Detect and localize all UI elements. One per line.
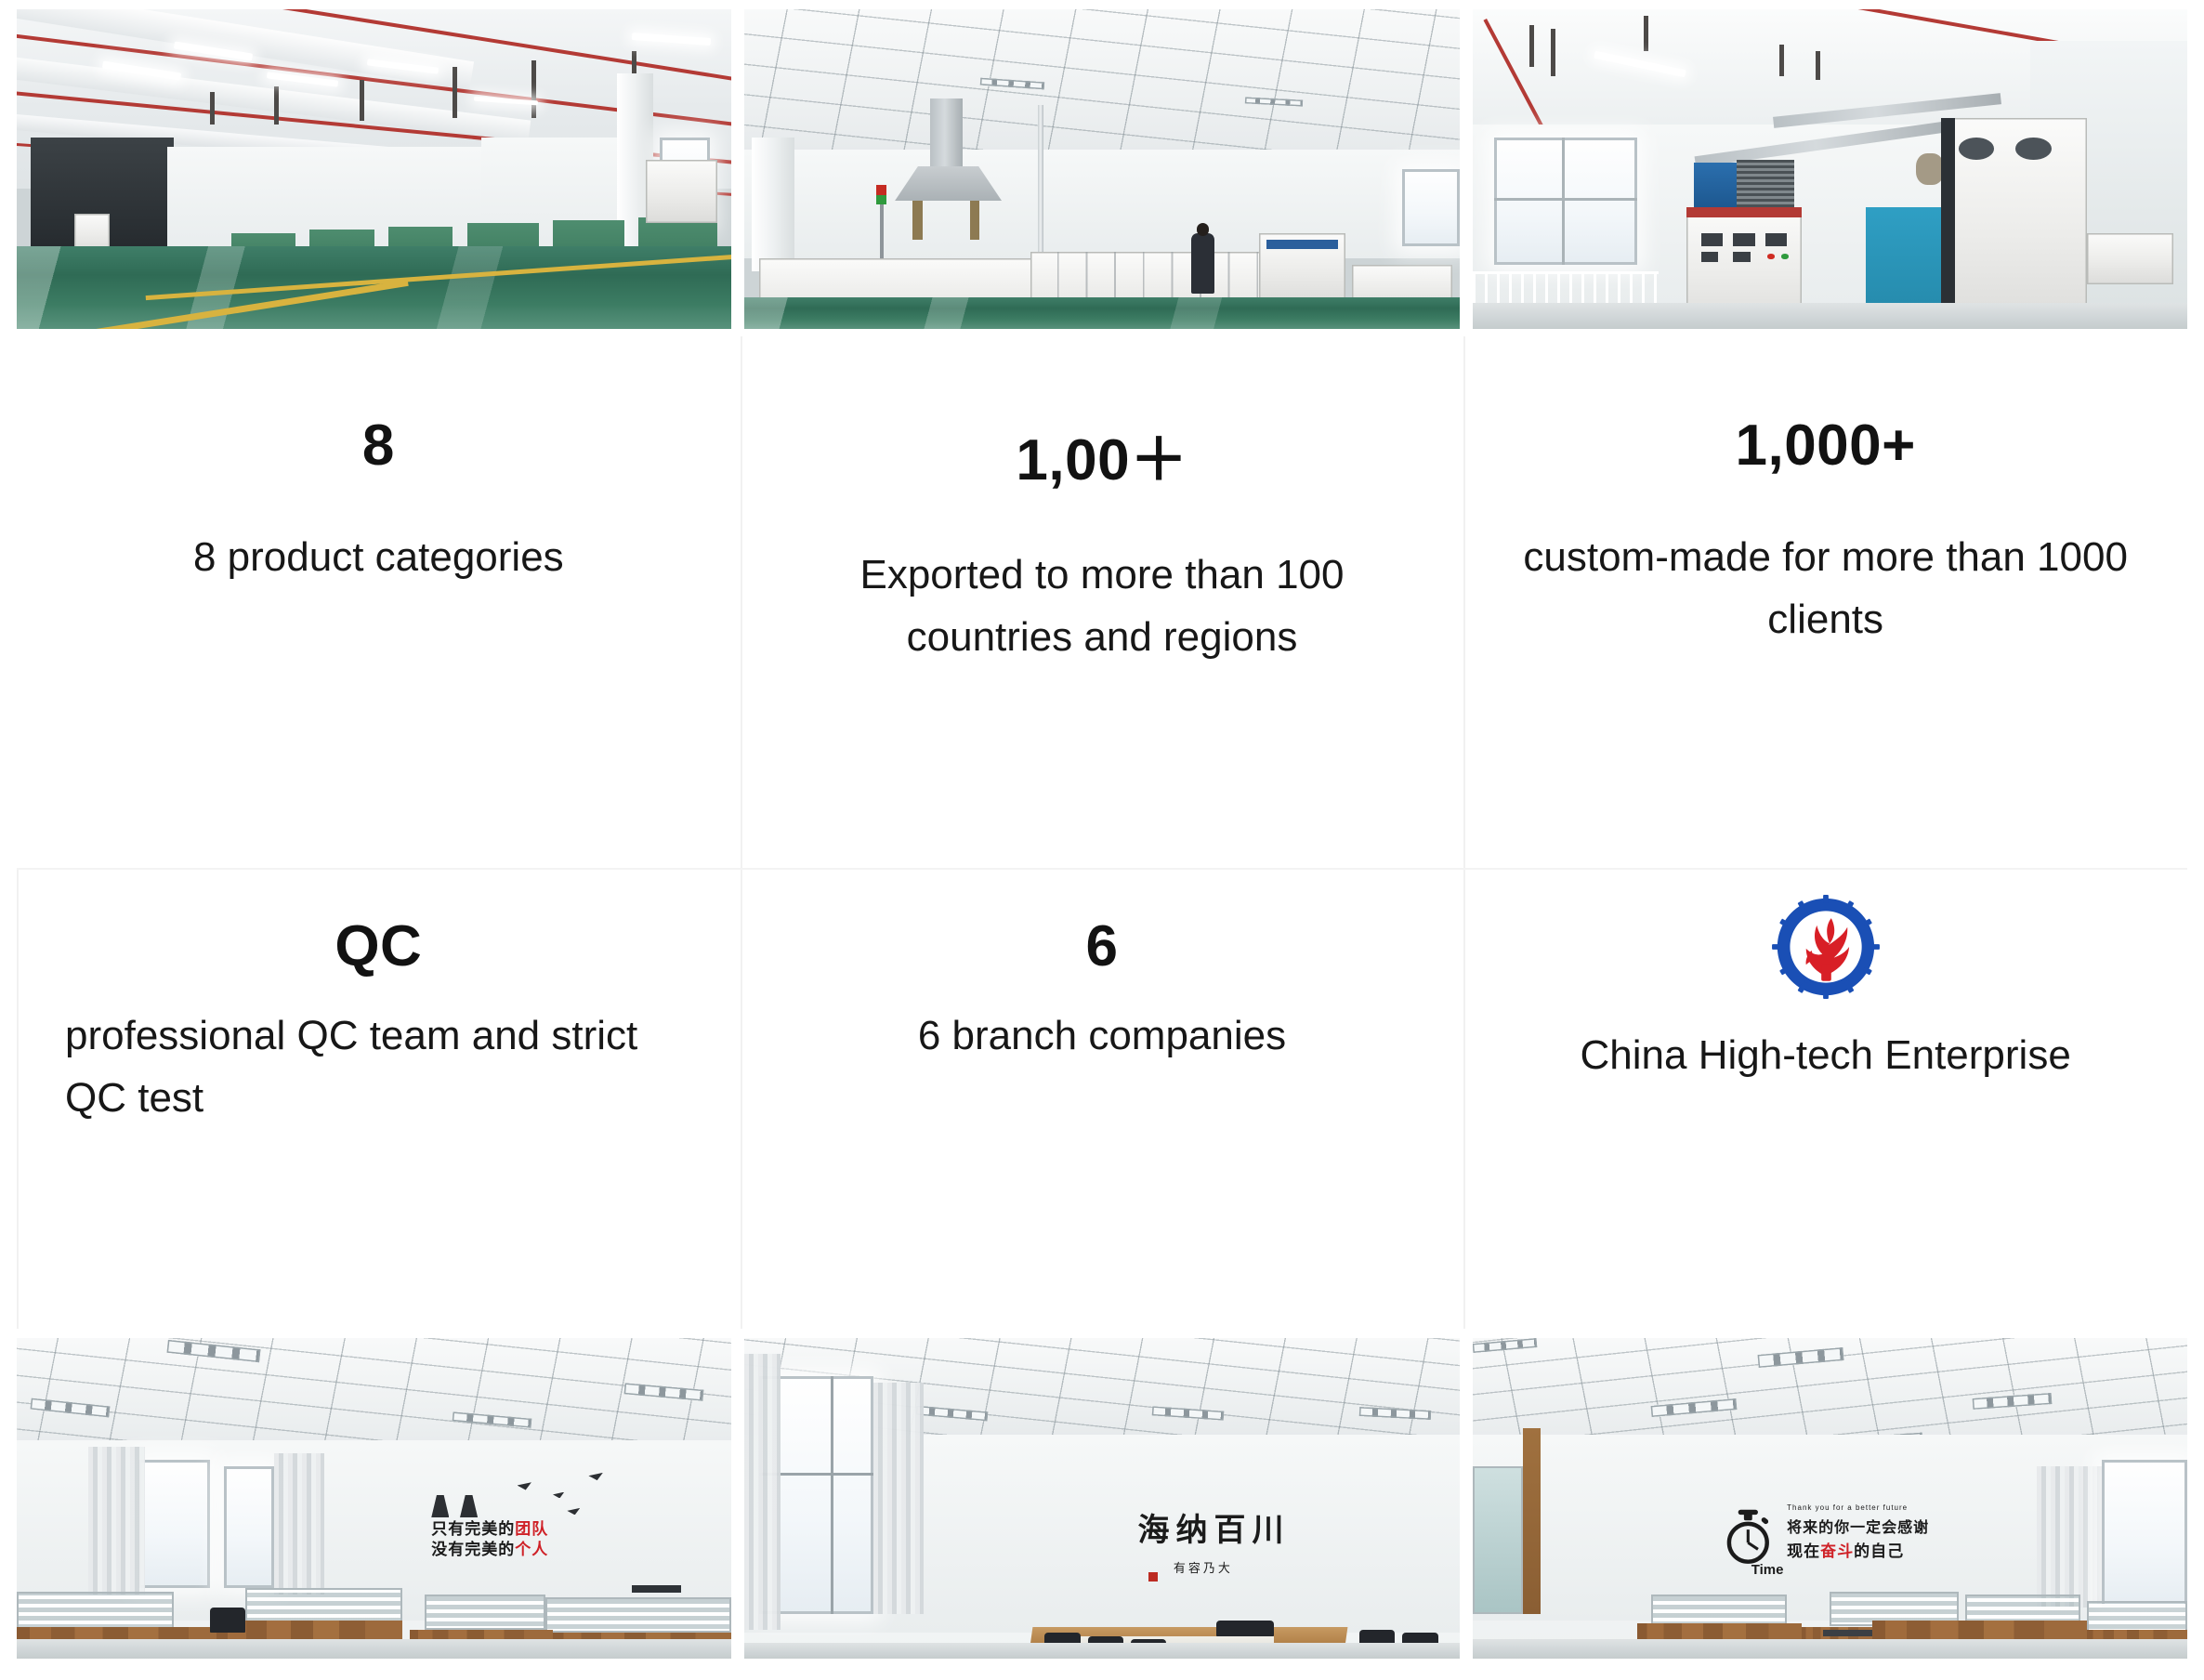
stat-value: 1,000+ xyxy=(1735,413,1915,479)
badge-wrap xyxy=(1772,895,1880,999)
stat-value: 8 xyxy=(362,413,395,479)
stat-value: QC xyxy=(335,913,422,979)
conference-calligraphy-decal: 海纳百川 xyxy=(1137,1515,1290,1546)
company-capability-page: 8 8 product categories 1,00＋ Exported to… xyxy=(0,0,2204,1680)
office-team-wall-decal: 只有完美的团队 没有完美的个人 xyxy=(431,1521,548,1557)
stat-cell-custom-made-clients: 1,000+ custom-made for more than 1000 cl… xyxy=(1463,336,2187,869)
conference-room-photo: 海纳百川 有容乃大 xyxy=(744,1338,1459,1659)
stat-value: 1,00＋ xyxy=(1016,413,1187,496)
sales-office-wall-decal-line1: 将来的你一定会感谢 xyxy=(1787,1521,1929,1536)
stat-description: custom-made for more than 1000 clients xyxy=(1512,527,2139,651)
company-stats-grid: 8 8 product categories 1,00＋ Exported to… xyxy=(17,336,2187,1329)
stat-cell-quality-control: QC professional QC team and strict QC te… xyxy=(17,869,741,1329)
reflow-oven-line-photo xyxy=(744,9,1459,329)
stat-description: professional QC team and strict QC test xyxy=(65,1005,692,1130)
sales-office-wall-decal: Thank you for a better future xyxy=(1787,1504,1908,1512)
stat-cell-export-countries: 1,00＋ Exported to more than 100 countrie… xyxy=(741,336,1464,869)
china-high-tech-enterprise-badge-icon xyxy=(1772,895,1880,999)
sales-office-wall-decal-line2: 现在奋斗的自己 xyxy=(1787,1543,1904,1559)
time-wordmark: Time xyxy=(1751,1563,1784,1577)
production-workshop-photo xyxy=(17,9,731,329)
stopwatch-icon xyxy=(1709,1508,1788,1566)
open-plan-office-photo: 只有完美的团队 没有完美的个人 xyxy=(17,1338,731,1659)
stat-cell-branch-companies: 6 6 branch companies xyxy=(741,869,1464,1329)
stat-description: 8 product categories xyxy=(193,527,564,589)
stat-value: 6 xyxy=(1086,913,1119,979)
conference-calligraphy-subtext: 有容乃大 xyxy=(1174,1563,1233,1575)
coating-machine-photo xyxy=(1473,9,2187,329)
stat-cell-product-categories: 8 8 product categories xyxy=(17,336,741,869)
stat-cell-high-tech-enterprise: China High-tech Enterprise xyxy=(1463,869,2187,1329)
sales-office-photo: Thank you for a better future 将来的你一定会感谢 … xyxy=(1473,1338,2187,1659)
office-photo-row: 只有完美的团队 没有完美的个人 xyxy=(17,1338,2187,1659)
stat-description: Exported to more than 100 countries and … xyxy=(789,545,1416,669)
stat-description: 6 branch companies xyxy=(918,1005,1286,1068)
factory-photo-row xyxy=(17,9,2187,329)
stat-description: China High-tech Enterprise xyxy=(1581,1025,2071,1087)
